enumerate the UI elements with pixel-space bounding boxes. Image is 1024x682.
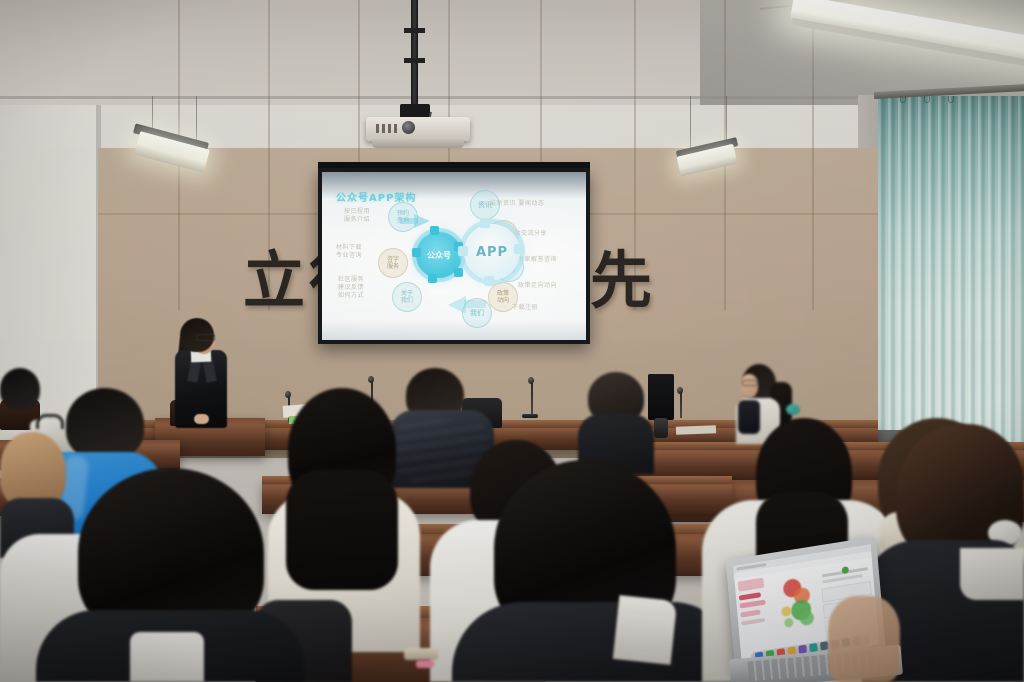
wood-seam bbox=[812, 0, 814, 310]
presenter-hands bbox=[194, 414, 209, 424]
slide-gear-app: APP bbox=[464, 224, 520, 280]
desk-papers[interactable] bbox=[676, 425, 716, 434]
gear-tooth bbox=[430, 226, 439, 235]
app-sidebar-item[interactable] bbox=[739, 592, 761, 600]
audience-center-foreground-collar bbox=[613, 595, 677, 665]
microphone-stem[interactable] bbox=[680, 392, 682, 418]
projection-screen[interactable]: 公众号APP架构 按日程用服务介绍 材料下载专业咨询 社区服务建议反馈如何方式 … bbox=[318, 168, 590, 344]
gear-tooth bbox=[412, 248, 421, 257]
microphone-head[interactable] bbox=[677, 387, 683, 394]
projector-pole bbox=[411, 0, 418, 112]
projector-vent bbox=[376, 124, 379, 133]
audience-seated-woman-glasses-face bbox=[740, 374, 758, 398]
gear-tooth bbox=[428, 274, 437, 283]
presenter-glasses bbox=[196, 334, 215, 341]
projector-vent bbox=[388, 124, 391, 133]
slide-node-yuyue: 预约查询 bbox=[388, 202, 418, 232]
light-wire bbox=[726, 96, 727, 144]
projector-lower-shell bbox=[372, 139, 464, 148]
audience-seated-woman-glasses-spectacles bbox=[742, 380, 758, 386]
desk-monitor[interactable] bbox=[648, 374, 674, 420]
audience-head bbox=[0, 368, 40, 410]
teal-hair-tie bbox=[786, 404, 800, 415]
audience-center-foreground-suit-body bbox=[452, 602, 736, 682]
microphone-stem[interactable] bbox=[531, 382, 533, 416]
gear-tooth bbox=[514, 244, 524, 254]
slide-node-zixun: 资讯 bbox=[470, 190, 500, 220]
slide-caption-left-2: 材料下载专业咨询 bbox=[336, 244, 384, 260]
audience-center-long-hair-strands bbox=[286, 470, 398, 590]
projector-lens bbox=[402, 121, 415, 134]
microphone-base bbox=[522, 414, 538, 418]
audience-right-blazer-collar bbox=[960, 548, 1024, 600]
light-wire bbox=[196, 96, 197, 144]
projector-pole-bracket bbox=[404, 58, 425, 63]
slide-node-zhengce: 政策动向 bbox=[488, 282, 518, 312]
slide-caption-right-5: 下载注册 bbox=[512, 304, 572, 312]
projector-pole-bracket bbox=[404, 28, 425, 33]
classroom-photo: 立德 先 公众号APP架构 按日程用服务介绍 材料下载专业咨询 社区服务建议反馈… bbox=[0, 0, 1024, 682]
desk-item-pen[interactable] bbox=[416, 660, 434, 668]
cluster-node-green bbox=[799, 610, 814, 626]
microphone-head[interactable] bbox=[528, 377, 534, 384]
projector-vent bbox=[382, 124, 385, 133]
curtain-hook bbox=[924, 96, 930, 103]
slide-caption-right-4: 政策走向动向 bbox=[518, 282, 586, 290]
app-sidebar-item[interactable] bbox=[740, 600, 766, 609]
hand-on-laptop bbox=[828, 596, 900, 682]
projected-slide: 公众号APP架构 按日程用服务介绍 材料下载专业咨询 社区服务建议反馈如何方式 … bbox=[322, 172, 586, 340]
app-sidebar-item[interactable] bbox=[740, 609, 760, 617]
gear-tooth bbox=[454, 268, 463, 277]
gear-tooth bbox=[480, 218, 490, 228]
slide-caption-left-3: 社区服务建议反馈如何方式 bbox=[338, 276, 386, 300]
projector-vent bbox=[394, 124, 397, 133]
audience-foreground-left-collar bbox=[130, 632, 204, 682]
curtain-hook bbox=[948, 96, 954, 103]
audience-back-left-blue-head bbox=[66, 388, 144, 460]
desk-item-paper[interactable] bbox=[404, 648, 438, 660]
bag-handle bbox=[36, 414, 64, 429]
gear-tooth bbox=[484, 276, 494, 286]
audience-seated-woman-jacket bbox=[738, 400, 760, 434]
light-wire bbox=[690, 96, 691, 148]
wall-banner-right: 先 bbox=[590, 250, 656, 312]
slide-node-guanyu: 关于我们 bbox=[392, 282, 422, 312]
app-sidebar-item[interactable] bbox=[738, 578, 765, 592]
slide-caption-left-1: 按日程用服务介绍 bbox=[344, 208, 390, 224]
microphone-head[interactable] bbox=[368, 376, 374, 383]
desk-thermos[interactable] bbox=[654, 418, 668, 438]
slide-caption-right-1: 最新资讯 要闻动态 bbox=[490, 200, 570, 208]
dock-icon[interactable] bbox=[809, 643, 818, 652]
curtain-hook bbox=[900, 96, 906, 103]
slide-caption-right-3: 专家解答咨询 bbox=[518, 256, 586, 264]
cluster-node-green bbox=[784, 617, 794, 627]
cluster-node-yellow bbox=[781, 606, 792, 618]
slide-node-women: 我们 bbox=[462, 298, 492, 328]
gear-tooth bbox=[458, 246, 468, 256]
microphone-head[interactable] bbox=[285, 391, 291, 398]
slide-node-fuwu: 咨字服务 bbox=[378, 248, 408, 278]
app-sidebar-item[interactable] bbox=[741, 618, 765, 626]
